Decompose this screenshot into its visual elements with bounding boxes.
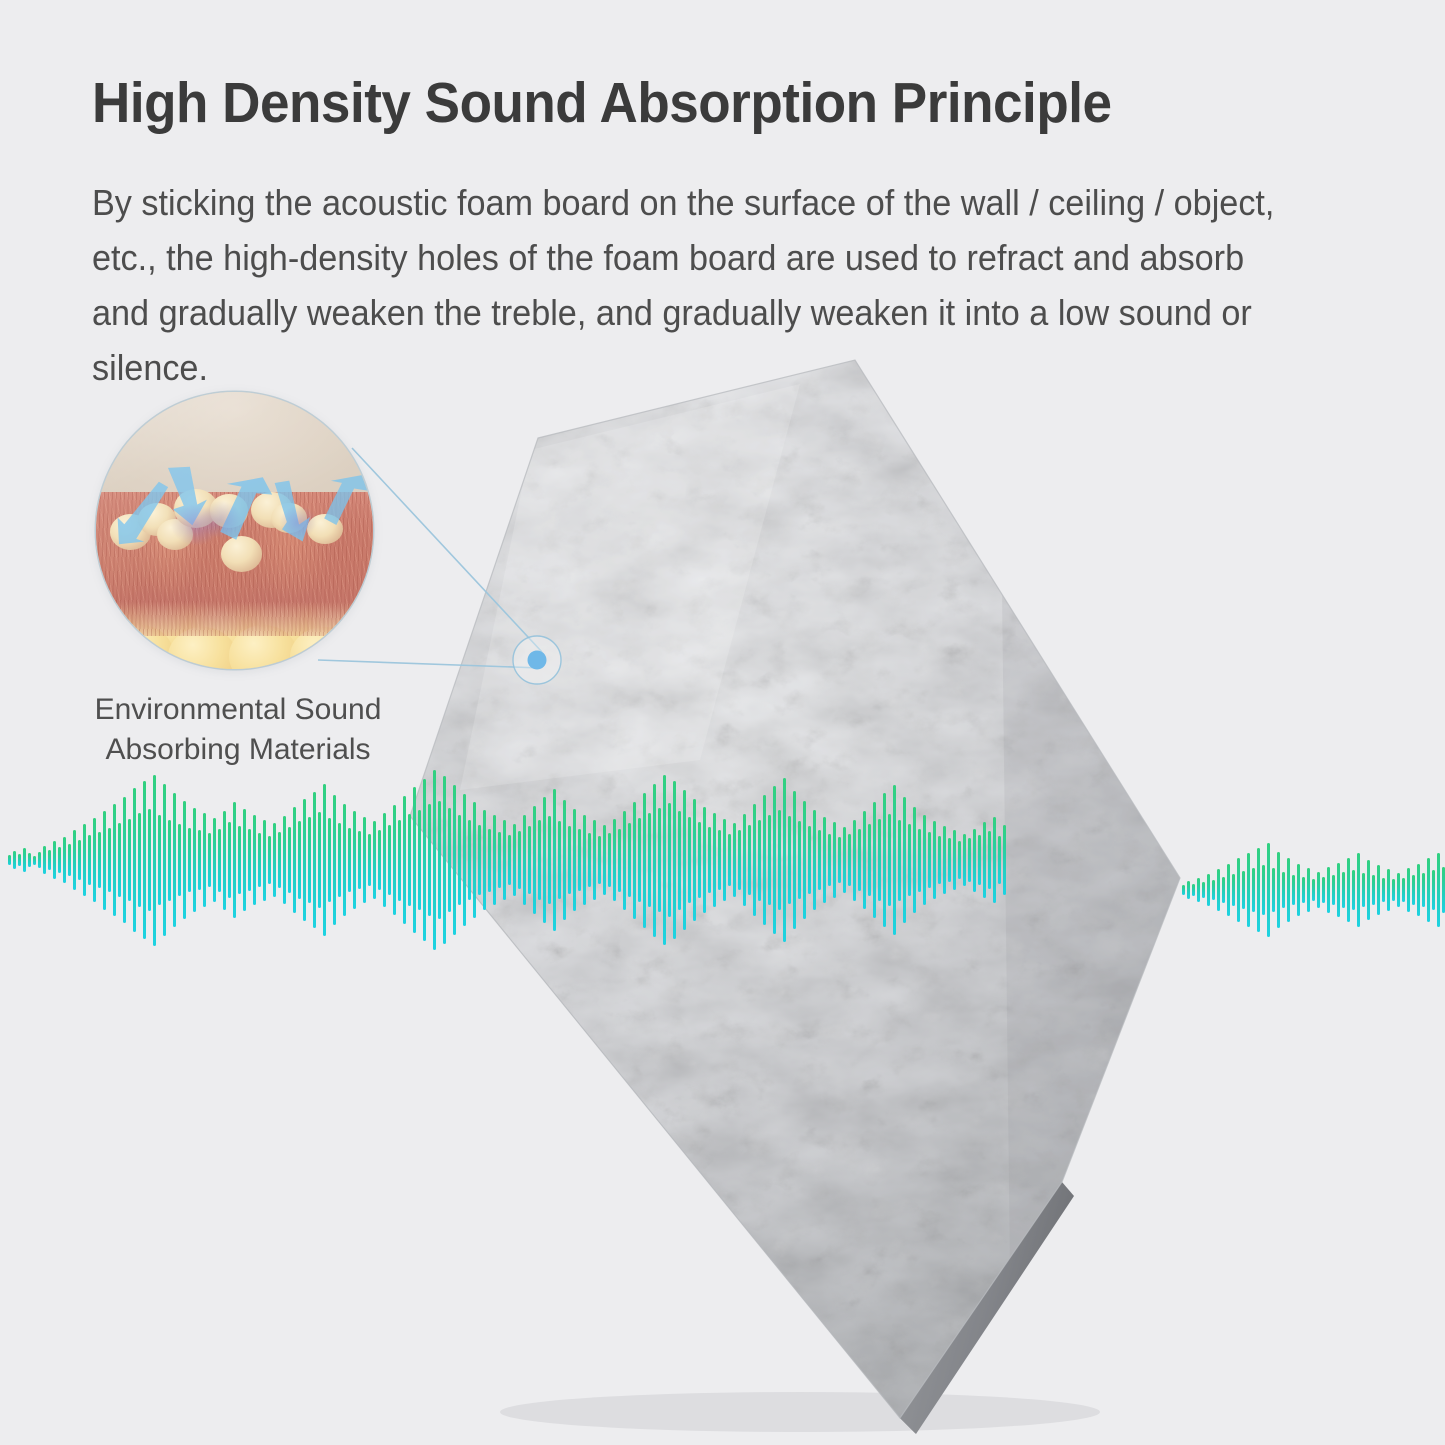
leader-line-upper: [352, 448, 542, 652]
magnifier-caption: Environmental Sound Absorbing Materials: [78, 690, 398, 770]
magnifier-glass-sheen: [96, 392, 373, 669]
magnifier-caption-line-2: Absorbing Materials: [78, 730, 398, 770]
magnifier-caption-line-1: Environmental Sound: [78, 690, 398, 730]
infographic-root: High Density Sound Absorption Principle …: [0, 0, 1445, 1445]
callout-dot: [528, 651, 547, 670]
magnified-material-circle: [96, 392, 373, 669]
